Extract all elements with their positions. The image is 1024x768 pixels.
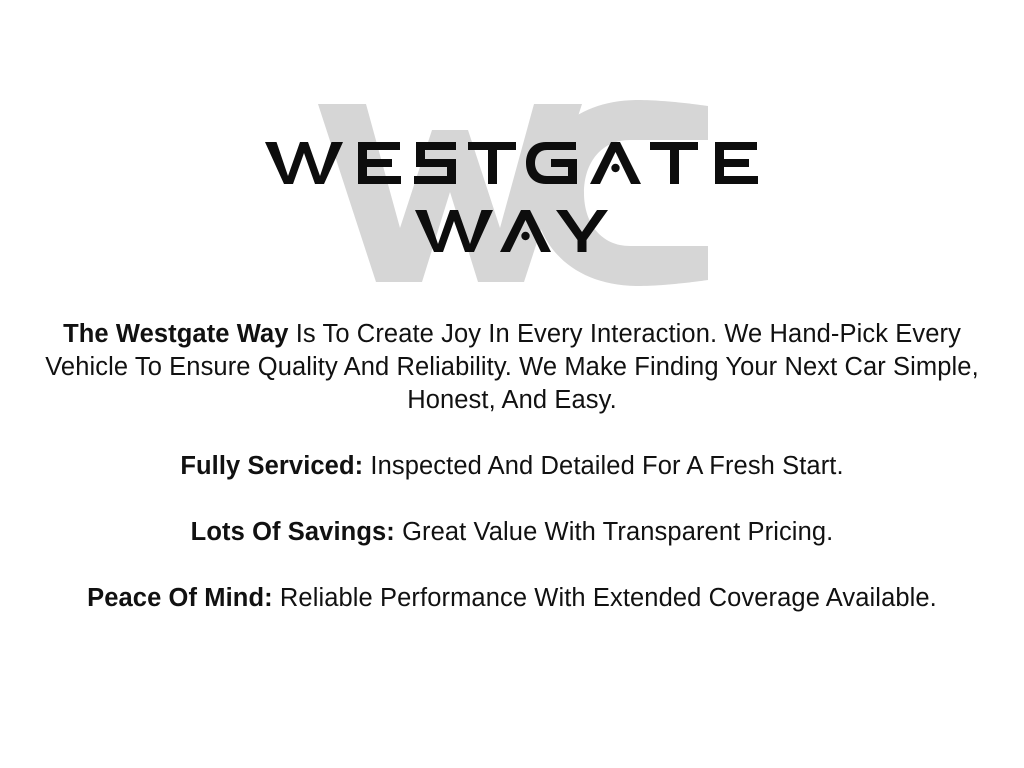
paragraph-peace-of-mind: Peace Of Mind: Reliable Performance With… [0,582,1024,615]
paragraph-lots-of-savings-text: Great Value With Transparent Pricing. [395,518,833,546]
paragraph-fully-serviced: Fully Serviced: Inspected And Detailed F… [0,450,1024,483]
slide-root: The Westgate Way Is To Create Joy In Eve… [0,0,1024,768]
paragraph-fully-serviced-lead: Fully Serviced: [180,452,363,480]
paragraph-peace-of-mind-text: Reliable Performance With Extended Cover… [273,584,937,612]
paragraph-lots-of-savings-lead: Lots Of Savings: [191,518,395,546]
paragraph-fully-serviced-text: Inspected And Detailed For A Fresh Start… [363,452,843,480]
paragraph-intro-lead: The Westgate Way [63,320,288,348]
paragraph-lots-of-savings: Lots Of Savings: Great Value With Transp… [0,516,1024,549]
logo-lockup [0,92,1024,297]
paragraph-peace-of-mind-lead: Peace Of Mind: [87,584,273,612]
body-copy: The Westgate Way Is To Create Joy In Eve… [0,318,1024,615]
wordmark [0,92,1024,297]
paragraph-intro: The Westgate Way Is To Create Joy In Eve… [0,318,1024,417]
